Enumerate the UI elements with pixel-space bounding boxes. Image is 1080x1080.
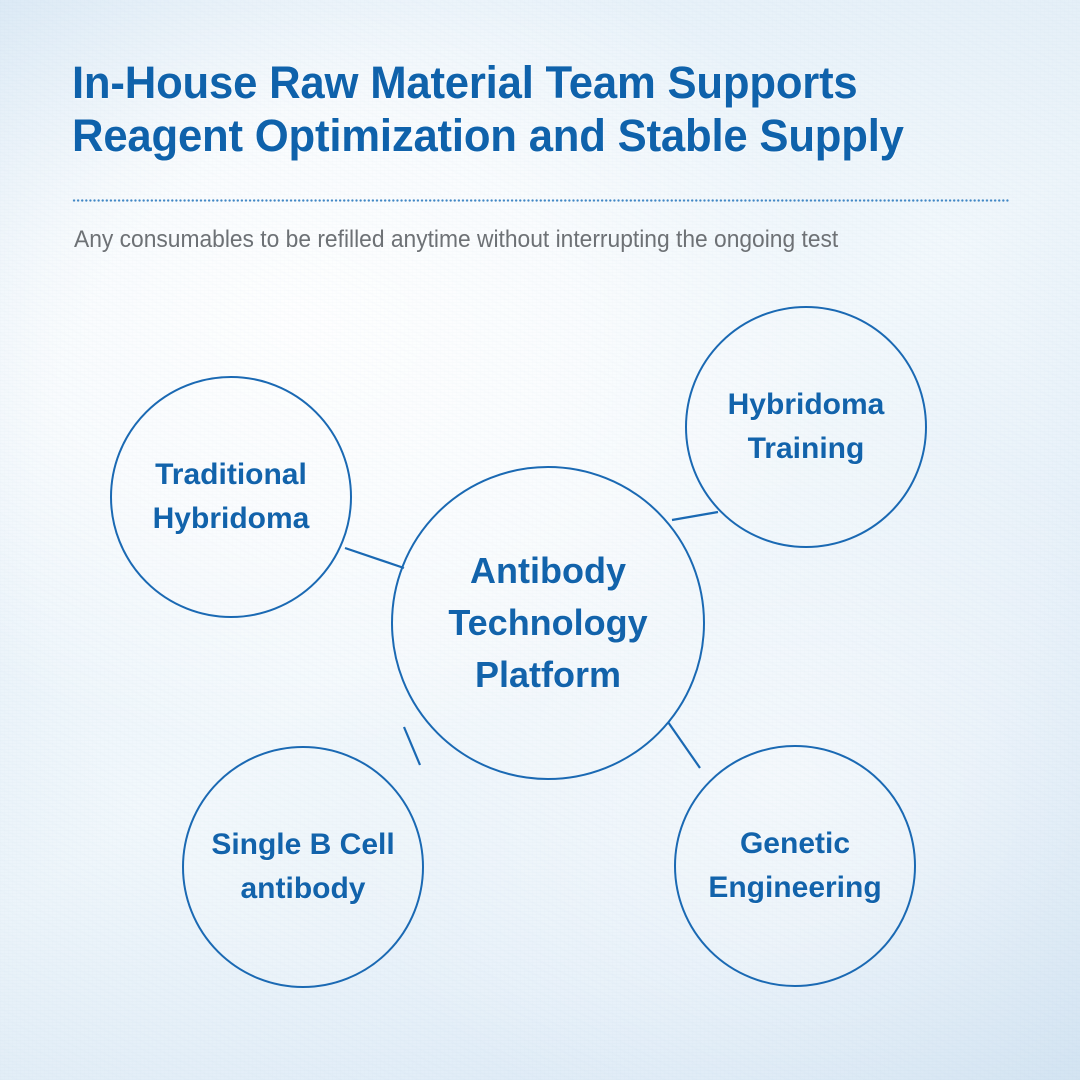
node-genetic-engineering-label: Genetic Engineering [700, 822, 889, 910]
connector-genetic-engineering [668, 722, 700, 768]
node-single-b-cell-antibody-line-1: Single B Cell [211, 828, 394, 861]
node-hybridoma-training-line-2: Training [748, 432, 865, 465]
node-single-b-cell-antibody[interactable]: Single B Cell antibody [182, 746, 424, 988]
antibody-technology-diagram: Antibody Technology Platform Traditional… [0, 0, 1080, 1080]
node-center-label-line-3: Platform [475, 654, 621, 695]
node-genetic-engineering-line-1: Genetic [740, 827, 850, 860]
connector-single-b-cell [404, 727, 420, 765]
node-traditional-hybridoma[interactable]: Traditional Hybridoma [110, 376, 352, 618]
node-center-label-line-1: Antibody [470, 550, 626, 591]
node-hybridoma-training-line-1: Hybridoma [728, 388, 885, 421]
node-single-b-cell-antibody-line-2: antibody [241, 872, 366, 905]
connector-traditional-hybridoma [345, 548, 404, 568]
poster-canvas: In-House Raw Material Team Supports Reag… [0, 0, 1080, 1080]
node-single-b-cell-antibody-label: Single B Cell antibody [203, 823, 402, 911]
node-traditional-hybridoma-line-1: Traditional [155, 458, 307, 491]
connector-hybridoma-training [672, 512, 718, 520]
node-genetic-engineering[interactable]: Genetic Engineering [674, 745, 916, 987]
node-traditional-hybridoma-line-2: Hybridoma [153, 502, 310, 535]
node-traditional-hybridoma-label: Traditional Hybridoma [145, 453, 318, 541]
node-genetic-engineering-line-2: Engineering [708, 871, 881, 904]
node-antibody-technology-platform[interactable]: Antibody Technology Platform [391, 466, 705, 780]
node-center-label-line-2: Technology [448, 602, 647, 643]
node-hybridoma-training[interactable]: Hybridoma Training [685, 306, 927, 548]
node-hybridoma-training-label: Hybridoma Training [720, 383, 893, 471]
node-center-label: Antibody Technology Platform [440, 545, 655, 701]
